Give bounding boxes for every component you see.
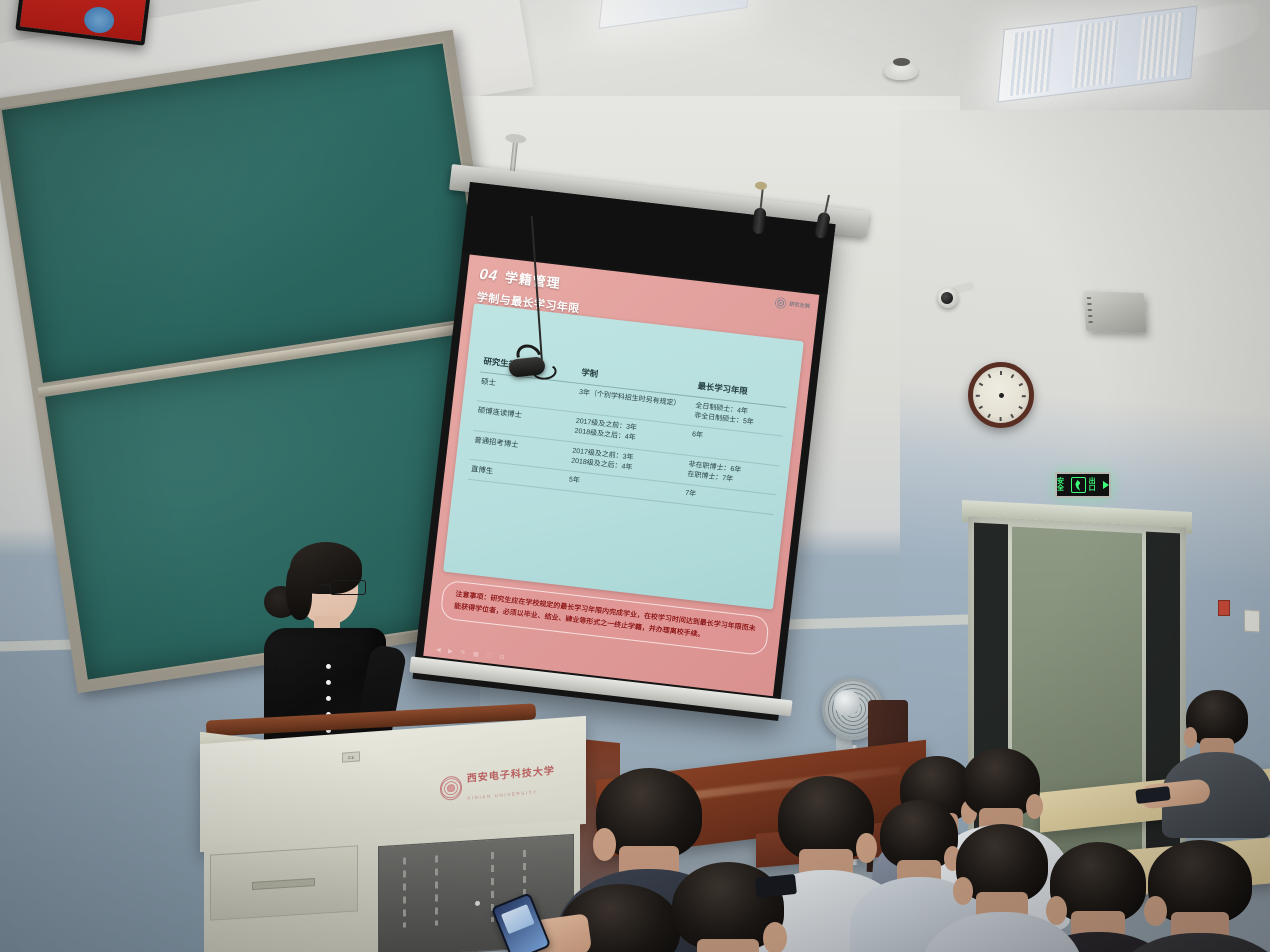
projection-screen: 研究生院 04 学籍管理 学制与最长学习年限 研究生类型 学制 最长学习年限 (413, 182, 836, 721)
light-switch-plate[interactable] (1244, 609, 1260, 632)
smartphone-on-desk[interactable] (755, 874, 797, 898)
slide-table-card: 研究生类型 学制 最长学习年限 硕士3年（个别学科招生时另有规定）全日制硕士：4… (443, 303, 804, 609)
exit-sign-left-text: 安全 (1057, 478, 1068, 492)
clock-center-pin (999, 393, 1004, 398)
slide-logo-text: 研究生院 (789, 301, 810, 310)
university-name-cn: 西安电子科技大学 (467, 766, 555, 785)
exit-sign: 安全 出口 (1055, 472, 1111, 498)
fire-alarm-box-icon[interactable] (1218, 600, 1230, 616)
chapter-title: 学籍管理 (504, 267, 562, 292)
exit-arrow-icon (1103, 481, 1109, 489)
exit-sign-right-text: 出口 (1089, 478, 1100, 492)
audience-member (672, 862, 784, 952)
wall-speaker-icon (1083, 291, 1146, 333)
audience-member (1186, 690, 1248, 768)
smoke-detector-icon (884, 62, 918, 80)
glasses-icon (330, 580, 366, 595)
running-man-icon (1071, 477, 1085, 493)
audience-member (1148, 840, 1252, 952)
presenter-hair-side (286, 562, 312, 620)
lectern-drawer[interactable] (210, 845, 358, 920)
audience-member (956, 824, 1048, 934)
lectern-badge: ICE (342, 751, 360, 762)
fan-motor-hub (834, 690, 860, 716)
university-name-en: XIDIAN UNIVERSITY (467, 789, 538, 800)
presentation-slide: 研究生院 04 学籍管理 学制与最长学习年限 研究生类型 学制 最长学习年限 (423, 254, 819, 696)
wall-clock (968, 362, 1034, 428)
chapter-number: 04 (478, 266, 499, 285)
university-mark-icon (775, 297, 787, 309)
university-seal-icon (440, 775, 462, 801)
classroom-photo: 研究生院 04 学籍管理 学制与最长学习年限 研究生类型 学制 最长学习年限 (0, 0, 1270, 952)
slideshow-toolbar[interactable]: ◀ ▶ ✎ ▦ ⬚ ⊡ (436, 646, 508, 661)
note-label: 注意事项： (455, 591, 491, 602)
audience-member (880, 800, 958, 896)
security-camera-icon (938, 288, 958, 308)
